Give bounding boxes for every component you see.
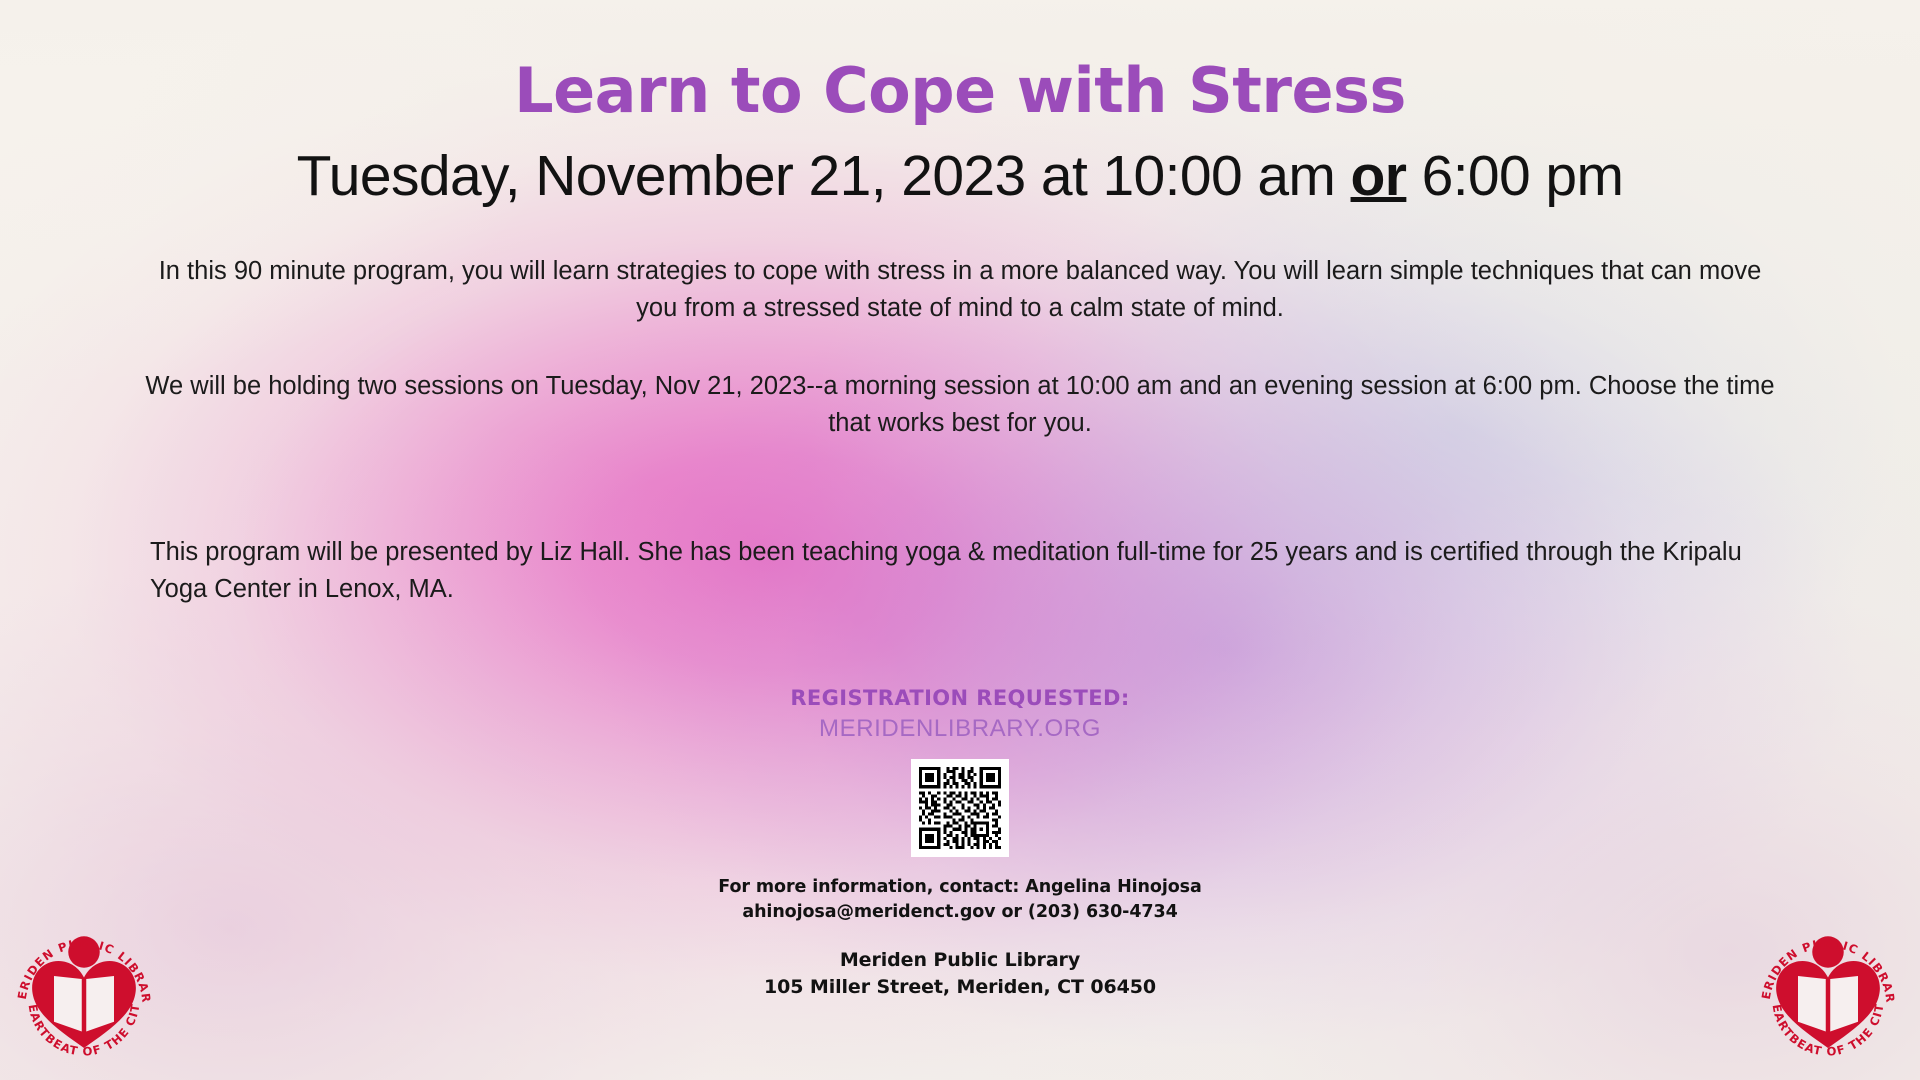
event-datetime-after: 6:00 pm [1406, 144, 1623, 208]
event-datetime-line: Tuesday, November 21, 2023 at 10:00 am o… [0, 145, 1920, 209]
library-logo-left: MERIDEN PUBLIC LIBRARY HEARTBEAT OF THE … [8, 922, 160, 1072]
event-datetime-before: Tuesday, November 21, 2023 at 10:00 am [297, 144, 1351, 208]
contact-line-2: ahinojosa@meridenct.gov or (203) 630-473… [0, 900, 1920, 925]
contact-block: For more information, contact: Angelina … [0, 875, 1920, 926]
poster-canvas: Learn to Cope with Stress Tuesday, Novem… [0, 0, 1920, 1080]
page-title: Learn to Cope with Stress [0, 58, 1920, 123]
contact-line-1: For more information, contact: Angelina … [0, 875, 1920, 900]
registration-heading: REGISTRATION REQUESTED: [0, 686, 1920, 710]
event-datetime-or: or [1351, 144, 1407, 208]
registration-url[interactable]: MERIDENLIBRARY.ORG [0, 715, 1920, 743]
poster-content: Learn to Cope with Stress Tuesday, Novem… [0, 0, 1920, 1080]
description-paragraph-1: In this 90 minute program, you will lear… [140, 253, 1780, 326]
address-block: Meriden Public Library 105 Miller Street… [0, 947, 1920, 1001]
presenter-paragraph: This program will be presented by Liz Ha… [140, 534, 1780, 608]
address-street: 105 Miller Street, Meriden, CT 06450 [0, 974, 1920, 1001]
library-logo-right: MERIDEN PUBLIC LIBRARY HEARTBEAT OF THE … [1752, 922, 1904, 1072]
address-library-name: Meriden Public Library [0, 947, 1920, 974]
registration-block: REGISTRATION REQUESTED: MERIDENLIBRARY.O… [0, 686, 1920, 857]
description-paragraph-2: We will be holding two sessions on Tuesd… [140, 368, 1780, 441]
qr-code[interactable] [911, 759, 1009, 857]
